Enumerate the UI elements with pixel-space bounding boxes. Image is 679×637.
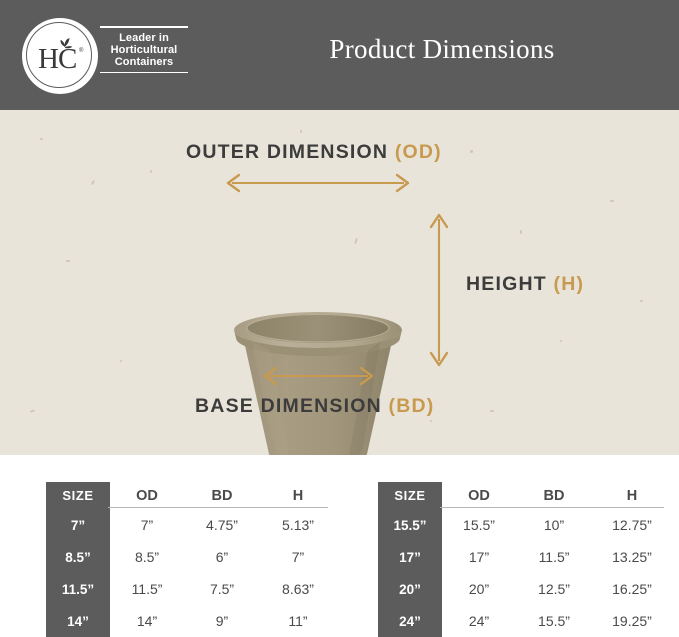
base-dimension-label: BASE DIMENSION (BD) [195, 395, 434, 418]
table-row: 15.5” 15.5” 10” 12.75” [378, 509, 672, 541]
small-sizes-table: SIZE OD BD H 7” 7” 4.75” 5.13” 8.5” 8.5”… [46, 482, 336, 637]
outer-dimension-text: OUTER DIMENSION [186, 141, 388, 163]
svg-text:®: ® [79, 47, 84, 54]
outer-dimension-code: (OD) [395, 141, 442, 163]
table-header-row: SIZE OD BD H [378, 482, 672, 509]
large-sizes-grid: SIZE OD BD H 15.5” 15.5” 10” 12.75” 17” … [378, 482, 672, 637]
table-header-row: SIZE OD BD H [46, 482, 336, 509]
column-header-bd: BD [184, 482, 260, 509]
cell-h: 8.63” [260, 573, 336, 605]
cell-h: 16.25” [592, 573, 672, 605]
base-dimension-text: BASE DIMENSION [195, 395, 382, 417]
cell-h: 5.13” [260, 509, 336, 541]
texture-speck [300, 130, 302, 133]
table-row: 17” 17” 11.5” 13.25” [378, 541, 672, 573]
height-label: HEIGHT (H) [466, 273, 584, 296]
tagline-line-3: Containers [100, 56, 188, 68]
tagline-rule-bottom [100, 72, 188, 74]
cell-size: 14” [46, 605, 110, 637]
cell-bd: 6” [184, 541, 260, 573]
table-header-rule [440, 507, 664, 508]
cell-bd: 4.75” [184, 509, 260, 541]
outer-dimension-arrow [222, 172, 414, 194]
tagline-line-1: Leader in [100, 32, 188, 44]
cell-od: 11.5” [110, 573, 184, 605]
cell-h: 13.25” [592, 541, 672, 573]
column-header-bd: BD [516, 482, 592, 509]
cell-size: 24” [378, 605, 442, 637]
texture-speck [40, 138, 43, 140]
cell-size: 20” [378, 573, 442, 605]
cell-bd: 11.5” [516, 541, 592, 573]
column-header-od: OD [110, 482, 184, 509]
cell-size: 17” [378, 541, 442, 573]
cell-bd: 15.5” [516, 605, 592, 637]
table-row: 7” 7” 4.75” 5.13” [46, 509, 336, 541]
texture-speck [470, 150, 473, 153]
cell-size: 11.5” [46, 573, 110, 605]
small-sizes-grid: SIZE OD BD H 7” 7” 4.75” 5.13” 8.5” 8.5”… [46, 482, 336, 637]
product-dimensions-infographic: H C ® Leader in Horticultural Containers… [0, 0, 679, 636]
column-header-size: SIZE [46, 482, 110, 509]
cell-h: 12.75” [592, 509, 672, 541]
cell-od: 14” [110, 605, 184, 637]
table-header-rule [108, 507, 328, 508]
logo-monogram-icon: H C ® [22, 18, 98, 94]
texture-speck [610, 200, 614, 202]
texture-speck [560, 340, 562, 342]
texture-speck [520, 230, 522, 234]
cell-size: 15.5” [378, 509, 442, 541]
brand-tagline: Leader in Horticultural Containers [100, 26, 188, 73]
hc-logo: H C ® [22, 18, 98, 94]
svg-text:H: H [38, 43, 59, 75]
texture-speck [430, 420, 432, 422]
height-code: (H) [554, 273, 585, 295]
cell-h: 7” [260, 541, 336, 573]
texture-speck [490, 410, 494, 412]
column-header-h: H [592, 482, 672, 509]
table-row: 14” 14” 9” 11” [46, 605, 336, 637]
table-row: 20” 20” 12.5” 16.25” [378, 573, 672, 605]
cell-od: 8.5” [110, 541, 184, 573]
cell-h: 11” [260, 605, 336, 637]
base-dimension-arrow [260, 365, 377, 387]
cell-bd: 12.5” [516, 573, 592, 605]
column-header-od: OD [442, 482, 516, 509]
cell-od: 20” [442, 573, 516, 605]
texture-speck [66, 260, 70, 262]
page-title: Product Dimensions [205, 34, 679, 65]
cell-od: 7” [110, 509, 184, 541]
cell-h: 19.25” [592, 605, 672, 637]
base-dimension-code: (BD) [389, 395, 435, 417]
column-header-size: SIZE [378, 482, 442, 509]
cell-od: 17” [442, 541, 516, 573]
cell-od: 15.5” [442, 509, 516, 541]
height-arrow [428, 210, 450, 370]
cell-bd: 7.5” [184, 573, 260, 605]
cell-size: 7” [46, 509, 110, 541]
large-sizes-table: SIZE OD BD H 15.5” 15.5” 10” 12.75” 17” … [378, 482, 672, 637]
header-bar: H C ® Leader in Horticultural Containers… [0, 0, 679, 110]
table-row: 11.5” 11.5” 7.5” 8.63” [46, 573, 336, 605]
tagline-line-2: Horticultural [100, 44, 188, 56]
diagram-panel: OUTER DIMENSION (OD) [0, 110, 679, 455]
table-row: 8.5” 8.5” 6” 7” [46, 541, 336, 573]
cell-size: 8.5” [46, 541, 110, 573]
table-row: 24” 24” 15.5” 19.25” [378, 605, 672, 637]
cell-bd: 9” [184, 605, 260, 637]
cell-od: 24” [442, 605, 516, 637]
outer-dimension-label: OUTER DIMENSION (OD) [186, 141, 442, 164]
height-text: HEIGHT [466, 273, 547, 295]
column-header-h: H [260, 482, 336, 509]
cell-bd: 10” [516, 509, 592, 541]
texture-speck [150, 170, 152, 173]
texture-speck [640, 300, 643, 302]
texture-speck [120, 360, 122, 362]
